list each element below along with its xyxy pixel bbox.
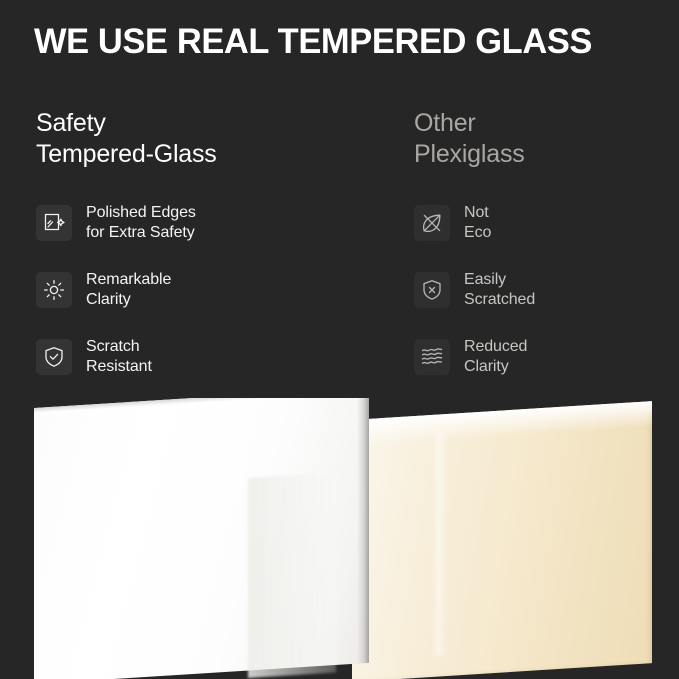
feature-label: Reduced Clarity [464,337,527,378]
feature-polished-edges: Polished Edges for Extra Safety [36,200,376,246]
feature-label: Remarkable Clarity [86,270,171,311]
column-heading-left: Safety Tempered-Glass [36,108,376,170]
wavy-lines-icon [414,339,450,375]
polished-edge-sparkle-icon [36,205,72,241]
feature-label: Easily Scratched [464,270,535,311]
feature-not-eco: Not Eco [414,200,679,246]
comparison-infographic: WE USE REAL TEMPERED GLASS Safety Temper… [0,0,679,679]
feature-scratch-resistant: Scratch Resistant [36,334,376,380]
feature-remarkable-clarity: Remarkable Clarity [36,267,376,313]
feature-label: Scratch Resistant [86,337,152,378]
leaf-crossed-out-icon [414,205,450,241]
sun-brightness-icon [36,272,72,308]
column-tempered-glass: Safety Tempered-Glass Polished Edges for… [36,108,376,380]
column-heading-right: Other Plexiglass [414,108,679,170]
glass-reflection [248,472,336,678]
product-photo-area [0,398,679,679]
feature-easily-scratched: Easily Scratched [414,267,679,313]
page-title: WE USE REAL TEMPERED GLASS [34,22,592,62]
plexiglass-panel [352,401,652,679]
shield-x-icon [414,272,450,308]
feature-label: Not Eco [464,203,491,244]
column-plexiglass: Other Plexiglass Not Eco Easily Scratche… [414,108,679,380]
feature-reduced-clarity: Reduced Clarity [414,334,679,380]
shield-check-icon [36,339,72,375]
feature-label: Polished Edges for Extra Safety [86,203,196,244]
